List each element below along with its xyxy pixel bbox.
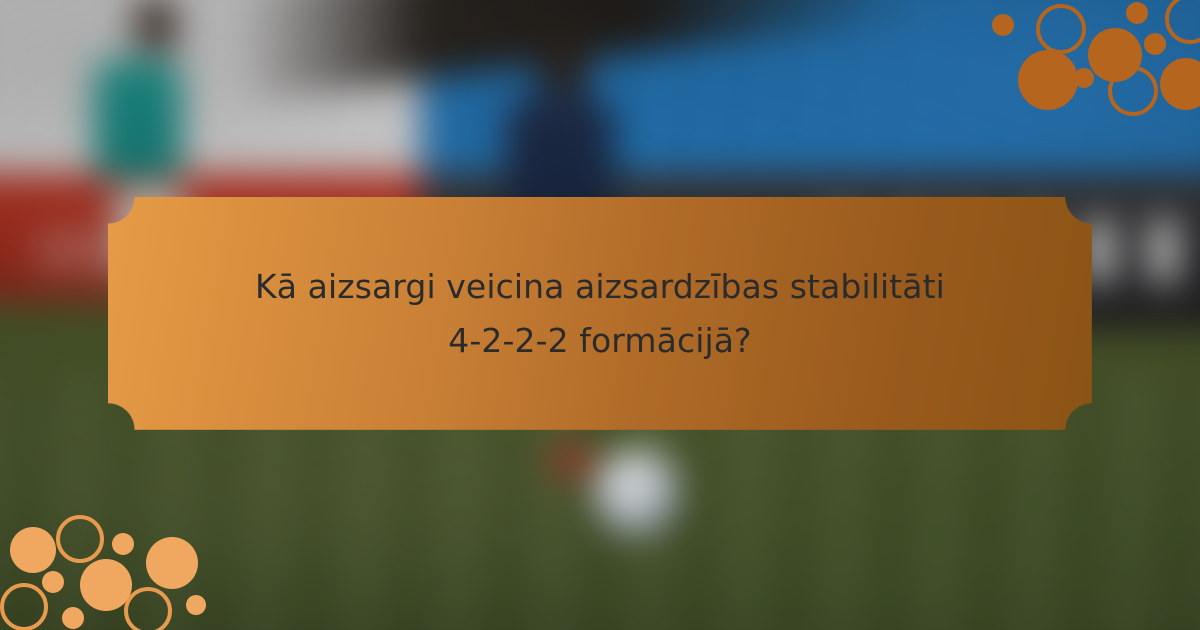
board-letter — [1150, 219, 1177, 283]
decorative-circle — [1036, 4, 1086, 54]
decorative-dots-top-right — [980, 0, 1200, 130]
spectator-teal-shirt — [94, 59, 182, 179]
decorative-circle — [124, 587, 172, 630]
decorative-circle — [10, 527, 56, 573]
decorative-circle — [1108, 66, 1158, 116]
question-text: Kā aizsargi veicina aizsardzības stabili… — [177, 260, 1023, 367]
decorative-circle — [1126, 2, 1148, 24]
soccer-ball — [594, 450, 680, 536]
decorative-dots-bottom-left — [0, 505, 235, 630]
decorative-circle — [186, 595, 206, 615]
player-head — [536, 31, 592, 97]
question-card: Kā aizsargi veicina aizsardzības stabili… — [108, 197, 1092, 430]
poster-canvas: Kā aizsargi veicina aizsardzības stabili… — [0, 0, 1200, 630]
decorative-circle — [112, 533, 134, 555]
decorative-circle — [56, 515, 104, 563]
decorative-circle — [1160, 58, 1200, 110]
decorative-circle — [992, 14, 1014, 36]
question-card-surface: Kā aizsargi veicina aizsardzības stabili… — [108, 197, 1092, 430]
decorative-circle — [0, 583, 48, 630]
decorative-circle — [1074, 68, 1094, 88]
player-boot — [549, 443, 593, 477]
decorative-circle — [146, 537, 198, 589]
decorative-circle — [1165, 0, 1200, 44]
decorative-circle — [1018, 50, 1078, 110]
decorative-circle — [62, 607, 84, 629]
decorative-circle — [42, 571, 64, 593]
decorative-circle — [1144, 33, 1166, 55]
spectator-head — [133, 0, 179, 54]
